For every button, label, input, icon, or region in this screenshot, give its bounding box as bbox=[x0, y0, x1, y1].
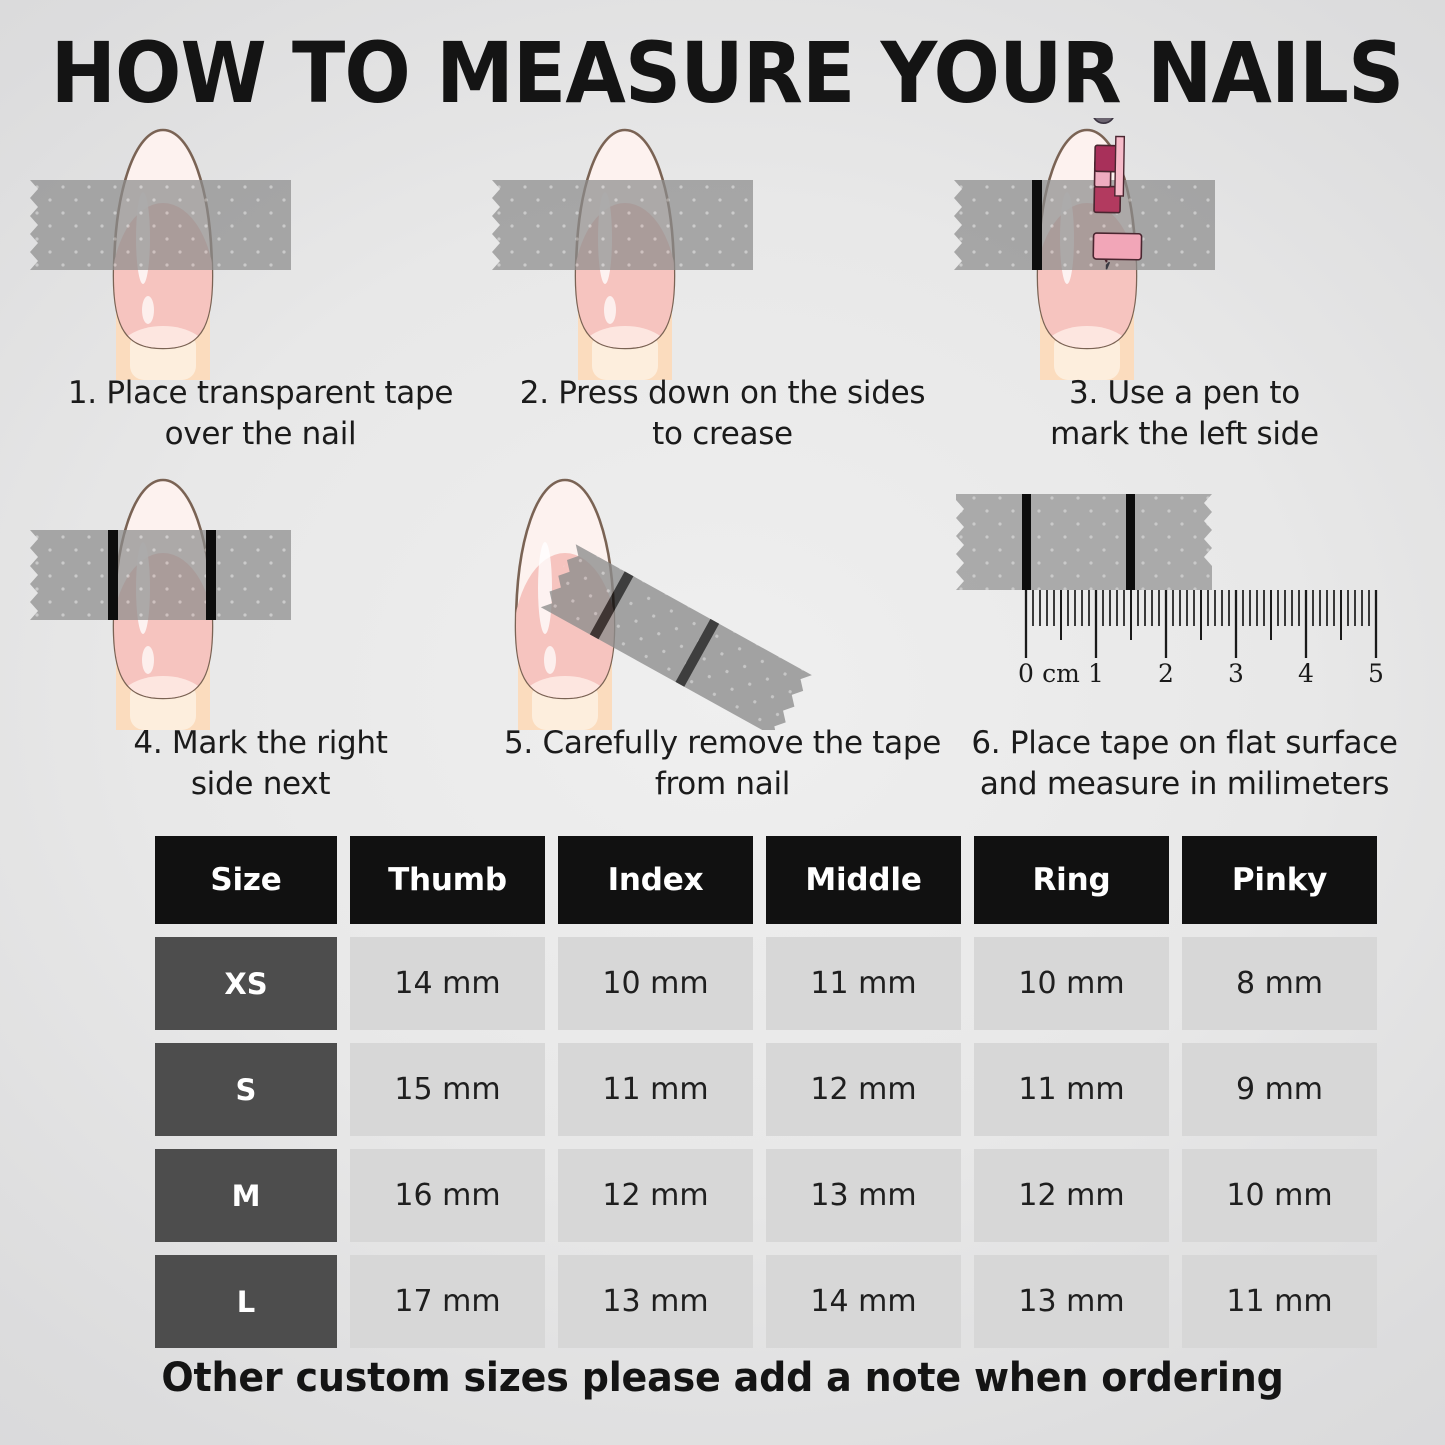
table-header-index: Index bbox=[558, 836, 753, 924]
infographic-page: HOW TO MEASURE YOUR NAILS bbox=[0, 0, 1445, 1445]
cell-xs-index: 10 mm bbox=[558, 937, 753, 1030]
step-3-caption: 3. Use a pen to mark the left side bbox=[944, 373, 1425, 455]
tape-strip bbox=[954, 180, 1215, 270]
table-row: L 17 mm 13 mm 14 mm 13 mm 11 mm bbox=[155, 1255, 1325, 1348]
step-3: 3. Use a pen to mark the left side bbox=[944, 118, 1425, 468]
tape-on-ruler-illustration: 0 cm 1 2 3 4 5 bbox=[944, 468, 1425, 730]
left-mark bbox=[108, 530, 118, 620]
cell-m-index: 12 mm bbox=[558, 1149, 753, 1242]
step-2-caption-line1: 2. Press down on the sides bbox=[520, 375, 925, 411]
tape-mark-start bbox=[1022, 494, 1031, 590]
cell-m-middle: 13 mm bbox=[766, 1149, 961, 1242]
left-mark bbox=[1032, 180, 1042, 270]
table-row: S 15 mm 11 mm 12 mm 11 mm 9 mm bbox=[155, 1043, 1325, 1136]
step-4-caption-line2: side next bbox=[191, 766, 330, 802]
step-6-caption-line2: and measure in milimeters bbox=[980, 766, 1389, 802]
table-header-size: Size bbox=[155, 836, 337, 924]
step-3-caption-line1: 3. Use a pen to bbox=[1069, 375, 1300, 411]
cell-l-thumb: 17 mm bbox=[350, 1255, 545, 1348]
step-2: 2. Press down on the sides to crease bbox=[482, 118, 963, 468]
tape-strip bbox=[30, 530, 291, 620]
step-1-caption-line1: 1. Place transparent tape bbox=[68, 375, 453, 411]
cell-xs-ring: 10 mm bbox=[974, 937, 1169, 1030]
table-header-thumb: Thumb bbox=[350, 836, 545, 924]
steps-row-top: 1. Place transparent tape over the nail bbox=[0, 118, 1445, 468]
cell-l-pinky: 11 mm bbox=[1182, 1255, 1377, 1348]
table-header-pinky: Pinky bbox=[1182, 836, 1377, 924]
tape-strip bbox=[956, 494, 1212, 590]
size-table: Size Thumb Index Middle Ring Pinky XS 14… bbox=[155, 836, 1325, 1361]
ruler-tick-0: 0 bbox=[1018, 659, 1034, 688]
cell-xs-pinky: 8 mm bbox=[1182, 937, 1377, 1030]
step-5-caption: 5. Carefully remove the tape from nail bbox=[482, 723, 963, 805]
table-row: M 16 mm 12 mm 13 mm 12 mm 10 mm bbox=[155, 1149, 1325, 1242]
step-5: 5. Carefully remove the tape from nail bbox=[482, 468, 963, 818]
tape-strip bbox=[492, 180, 753, 270]
table-header-ring: Ring bbox=[974, 836, 1169, 924]
ruler-tick-1: 1 bbox=[1088, 659, 1104, 688]
size-label-m: M bbox=[155, 1149, 337, 1242]
cell-s-pinky: 9 mm bbox=[1182, 1043, 1377, 1136]
tape-mark-end bbox=[1126, 494, 1135, 590]
step-2-caption: 2. Press down on the sides to crease bbox=[482, 373, 963, 455]
tape-strip bbox=[30, 180, 291, 270]
cell-l-middle: 14 mm bbox=[766, 1255, 961, 1348]
size-label-xs: XS bbox=[155, 937, 337, 1030]
cell-xs-middle: 11 mm bbox=[766, 937, 961, 1030]
steps-section: 1. Place transparent tape over the nail bbox=[0, 118, 1445, 818]
ruler-unit-label: cm bbox=[1042, 659, 1080, 688]
footer-note: Other custom sizes please add a note whe… bbox=[36, 1355, 1409, 1401]
step-5-caption-line1: 5. Carefully remove the tape bbox=[504, 725, 941, 761]
step-4-caption-line1: 4. Mark the right bbox=[133, 725, 387, 761]
step-4-caption: 4. Mark the right side next bbox=[20, 723, 501, 805]
finger-with-pen-illustration bbox=[944, 118, 1425, 380]
step-1-caption-line2: over the nail bbox=[165, 416, 357, 452]
ruler-tick-5: 5 bbox=[1368, 659, 1384, 688]
step-6: 0 cm 1 2 3 4 5 6. Place tape on flat sur… bbox=[944, 468, 1425, 818]
size-label-s: S bbox=[155, 1043, 337, 1136]
table-header-middle: Middle bbox=[766, 836, 961, 924]
cell-s-thumb: 15 mm bbox=[350, 1043, 545, 1136]
table-row: XS 14 mm 10 mm 11 mm 10 mm 8 mm bbox=[155, 937, 1325, 1030]
cell-l-ring: 13 mm bbox=[974, 1255, 1169, 1348]
step-4: 4. Mark the right side next bbox=[20, 468, 501, 818]
ruler-tick-3: 3 bbox=[1228, 659, 1244, 688]
right-mark bbox=[206, 530, 216, 620]
size-label-l: L bbox=[155, 1255, 337, 1348]
cell-m-thumb: 16 mm bbox=[350, 1149, 545, 1242]
page-title: HOW TO MEASURE YOUR NAILS bbox=[51, 24, 1395, 122]
step-6-caption-line1: 6. Place tape on flat surface bbox=[971, 725, 1397, 761]
ruler-labels: 0 cm 1 2 3 4 5 bbox=[1018, 659, 1384, 688]
tape-peeled-illustration bbox=[482, 468, 963, 730]
cell-s-ring: 11 mm bbox=[974, 1043, 1169, 1136]
cell-s-index: 11 mm bbox=[558, 1043, 753, 1136]
cell-l-index: 13 mm bbox=[558, 1255, 753, 1348]
ruler bbox=[1026, 590, 1376, 658]
step-3-caption-line2: mark the left side bbox=[1050, 416, 1319, 452]
steps-row-bottom: 4. Mark the right side next bbox=[0, 468, 1445, 818]
step-2-caption-line2: to crease bbox=[652, 416, 793, 452]
finger-with-tape-illustration bbox=[20, 118, 501, 380]
cell-xs-thumb: 14 mm bbox=[350, 937, 545, 1030]
step-5-caption-line2: from nail bbox=[655, 766, 790, 802]
cell-s-middle: 12 mm bbox=[766, 1043, 961, 1136]
step-6-caption: 6. Place tape on flat surface and measur… bbox=[944, 723, 1425, 805]
ruler-tick-2: 2 bbox=[1158, 659, 1174, 688]
cell-m-pinky: 10 mm bbox=[1182, 1149, 1377, 1242]
table-header-row: Size Thumb Index Middle Ring Pinky bbox=[155, 836, 1325, 924]
cell-m-ring: 12 mm bbox=[974, 1149, 1169, 1242]
step-1-caption: 1. Place transparent tape over the nail bbox=[20, 373, 501, 455]
step-1: 1. Place transparent tape over the nail bbox=[20, 118, 501, 468]
finger-with-both-marks-illustration bbox=[20, 468, 501, 730]
ruler-tick-4: 4 bbox=[1298, 659, 1314, 688]
finger-with-creased-tape-illustration bbox=[482, 118, 963, 380]
